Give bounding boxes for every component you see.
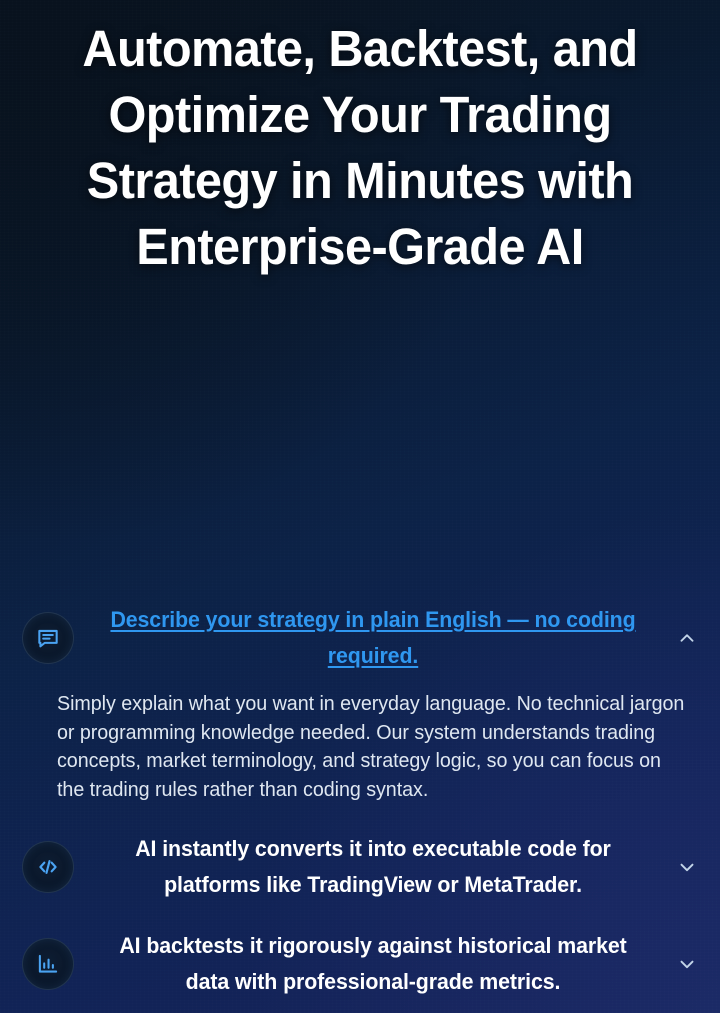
accordion-title[interactable]: AI backtests it rigorously against histo… — [100, 928, 645, 1000]
accordion-panel-describe-strategy: Simply explain what you want in everyday… — [0, 686, 720, 818]
accordion-body-text: Simply explain what you want in everyday… — [57, 690, 684, 804]
accordion-header-converts-code[interactable]: AI instantly converts it into executable… — [0, 819, 720, 915]
chevron-up-icon[interactable] — [672, 623, 702, 653]
hero-section: Automate, Backtest, and Optimize Your Tr… — [0, 0, 720, 280]
bar-chart-icon — [22, 938, 74, 990]
accordion-header-backtests[interactable]: AI backtests it rigorously against histo… — [0, 916, 720, 1012]
accordion-title-link[interactable]: Describe your strategy in plain English … — [100, 602, 645, 674]
accordion-header-describe-strategy[interactable]: Describe your strategy in plain English … — [0, 590, 720, 686]
page-root: Automate, Backtest, and Optimize Your Tr… — [0, 0, 720, 1013]
accordion-item-describe-strategy: Describe your strategy in plain English … — [0, 590, 720, 818]
accordion: Describe your strategy in plain English … — [0, 590, 720, 1012]
chevron-down-icon[interactable] — [672, 949, 702, 979]
chevron-down-icon[interactable] — [672, 852, 702, 882]
accordion-item-converts-code: AI instantly converts it into executable… — [0, 819, 720, 915]
chat-bubble-icon — [22, 612, 74, 664]
code-brackets-icon — [22, 841, 74, 893]
accordion-title[interactable]: AI instantly converts it into executable… — [100, 831, 645, 903]
accordion-item-backtests: AI backtests it rigorously against histo… — [0, 916, 720, 1012]
page-title: Automate, Backtest, and Optimize Your Tr… — [54, 16, 665, 280]
